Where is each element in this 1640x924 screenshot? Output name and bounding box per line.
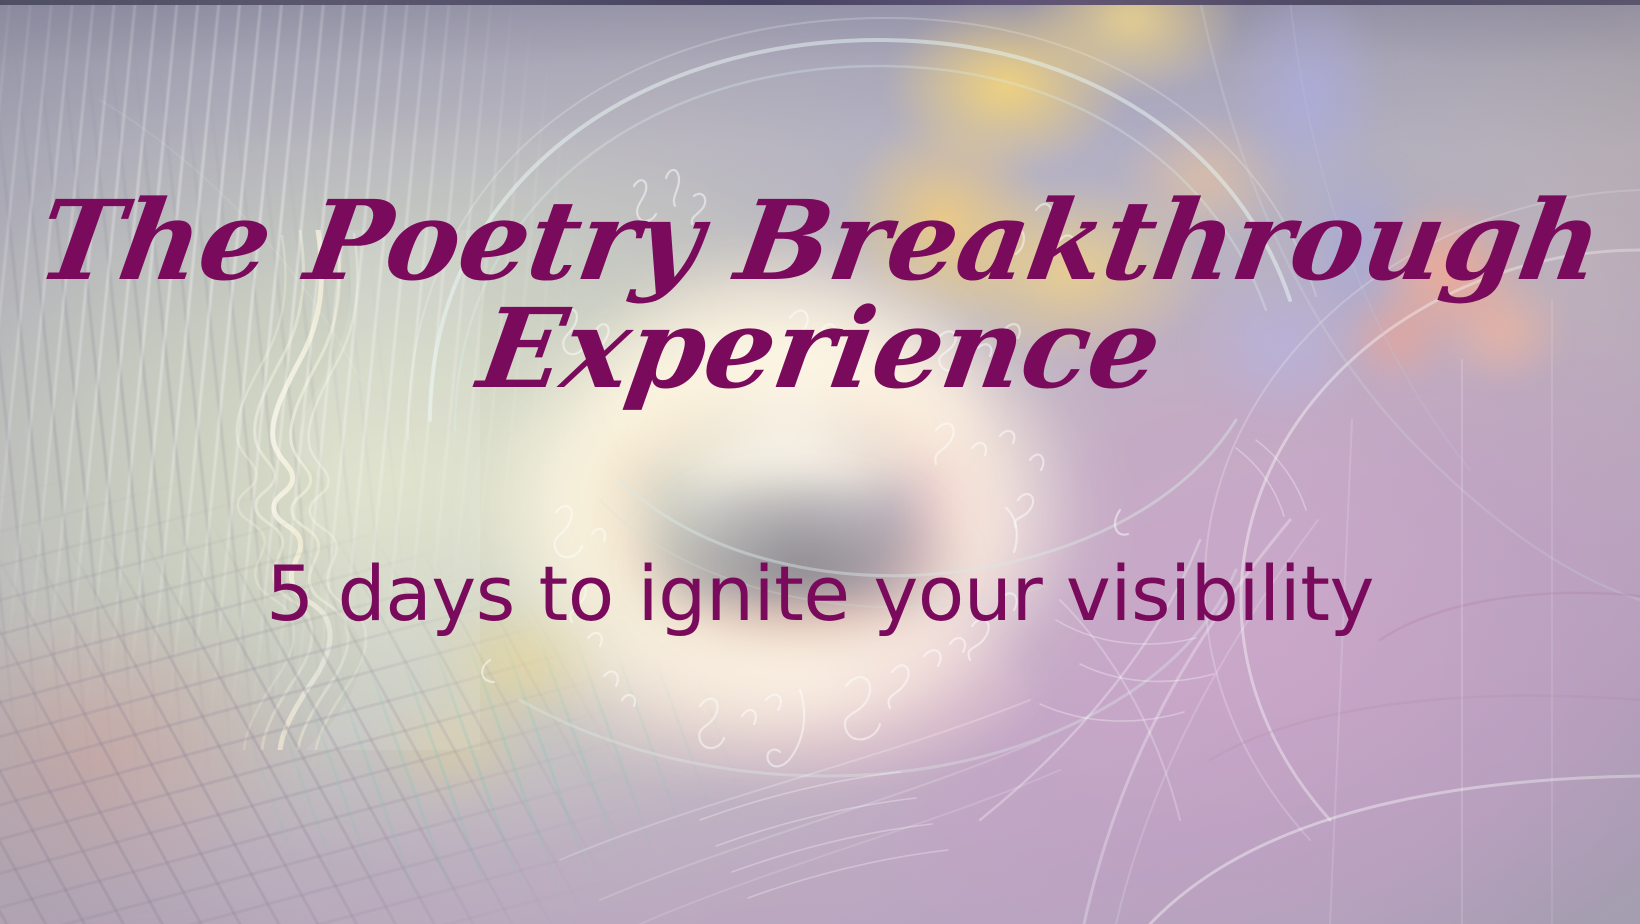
headline-block: The Poetry Breakthrough Experience — [0, 190, 1640, 401]
headline-line-2: Experience — [0, 298, 1640, 400]
headline-line-1: The Poetry Breakthrough — [0, 190, 1640, 292]
subtitle-text: 5 days to ignite your visibility — [0, 556, 1640, 632]
promo-banner: The Poetry Breakthrough Experience 5 day… — [0, 0, 1640, 924]
handwriting-script-overlay — [0, 0, 1640, 924]
top-edge-band — [0, 0, 1640, 5]
